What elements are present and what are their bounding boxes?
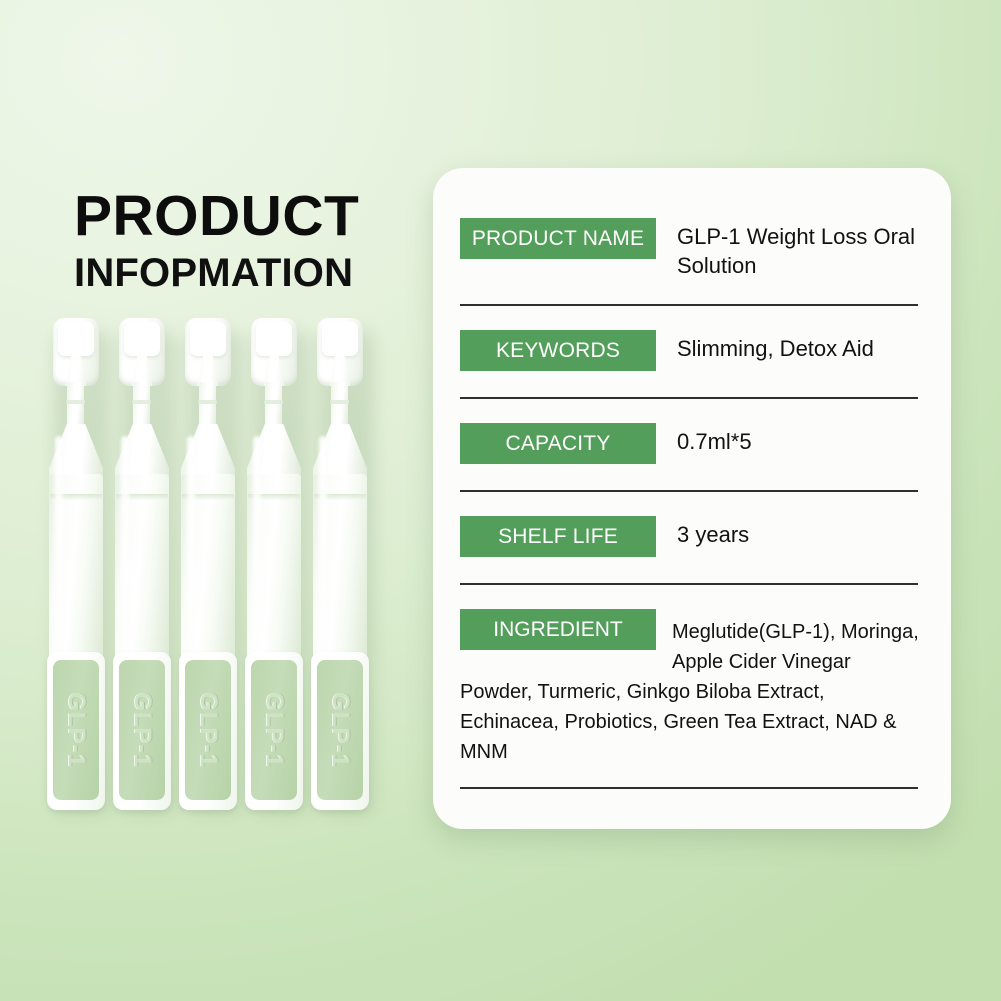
info-value-shelf-life: 3 years	[656, 516, 920, 550]
info-row-product-name: PRODUCT NAME GLP-1 Weight Loss Oral Solu…	[460, 218, 920, 280]
vial-label-text: GLP-1	[326, 692, 354, 768]
vial-label-text: GLP-1	[194, 692, 222, 768]
vial-label-panel: GLP-1	[53, 660, 99, 800]
vial-label-text: GLP-1	[128, 692, 156, 768]
info-value-capacity: 0.7ml*5	[656, 423, 920, 457]
vial-highlight	[253, 436, 261, 666]
vial-neck-ring	[330, 400, 349, 404]
vial-highlight	[187, 436, 195, 666]
vial-cap-face	[124, 322, 160, 356]
info-row-capacity: CAPACITY 0.7ml*5	[460, 423, 920, 464]
info-value-product-name: GLP-1 Weight Loss Oral Solution	[656, 218, 920, 280]
vial-neck	[67, 382, 84, 428]
info-value-keywords: Slimming, Detox Aid	[656, 330, 920, 364]
product-information-poster: PRODUCT INFOPMATION GLP-1	[0, 0, 1001, 1001]
vial-highlight	[121, 436, 129, 666]
ampoule-vial: GLP-1	[44, 316, 106, 816]
vial-cap-face	[190, 322, 226, 356]
vial-neck	[133, 382, 150, 428]
title-line-1: PRODUCT	[74, 188, 434, 245]
vial-highlight	[319, 436, 327, 666]
vial-cap-face	[58, 322, 94, 356]
vial-label-panel: GLP-1	[251, 660, 297, 800]
info-label-capacity: CAPACITY	[460, 423, 656, 464]
info-label-keywords: KEYWORDS	[460, 330, 656, 371]
ampoule-vial: GLP-1	[110, 316, 172, 816]
vial-cap-face	[256, 322, 292, 356]
ampoule-vial: GLP-1	[308, 316, 370, 816]
vial-neck	[265, 382, 282, 428]
info-row-shelf-life: SHELF LIFE 3 years	[460, 516, 920, 557]
vial-cap-face	[322, 322, 358, 356]
vial-neck-ring	[132, 400, 151, 404]
vial-neck-ring	[264, 400, 283, 404]
product-info-card: PRODUCT NAME GLP-1 Weight Loss Oral Solu…	[433, 168, 951, 829]
vial-neck-ring	[66, 400, 85, 404]
title-line-2: INFOPMATION	[74, 251, 434, 296]
row-divider	[460, 787, 918, 789]
vial-neck	[331, 382, 348, 428]
page-title: PRODUCT INFOPMATION	[74, 188, 434, 296]
vial-label-text: GLP-1	[260, 692, 288, 768]
vial-highlight	[55, 436, 63, 666]
info-row-list: PRODUCT NAME GLP-1 Weight Loss Oral Solu…	[460, 218, 920, 789]
vial-neck-ring	[198, 400, 217, 404]
info-label-shelf-life: SHELF LIFE	[460, 516, 656, 557]
ampoule-vial: GLP-1	[176, 316, 238, 816]
vial-label-panel: GLP-1	[185, 660, 231, 800]
vial-neck	[199, 382, 216, 428]
product-vial-group: GLP-1 GLP-1	[44, 316, 424, 836]
ampoule-vial: GLP-1	[242, 316, 304, 816]
info-label-product-name: PRODUCT NAME	[460, 218, 656, 259]
vial-label-text: GLP-1	[62, 692, 90, 768]
vial-label-panel: GLP-1	[317, 660, 363, 800]
info-row-keywords: KEYWORDS Slimming, Detox Aid	[460, 330, 920, 371]
info-label-ingredient: INGREDIENT	[460, 609, 656, 650]
info-row-ingredient: INGREDIENT Meglutide(GLP-1), Moringa, Ap…	[460, 609, 920, 767]
vial-label-panel: GLP-1	[119, 660, 165, 800]
